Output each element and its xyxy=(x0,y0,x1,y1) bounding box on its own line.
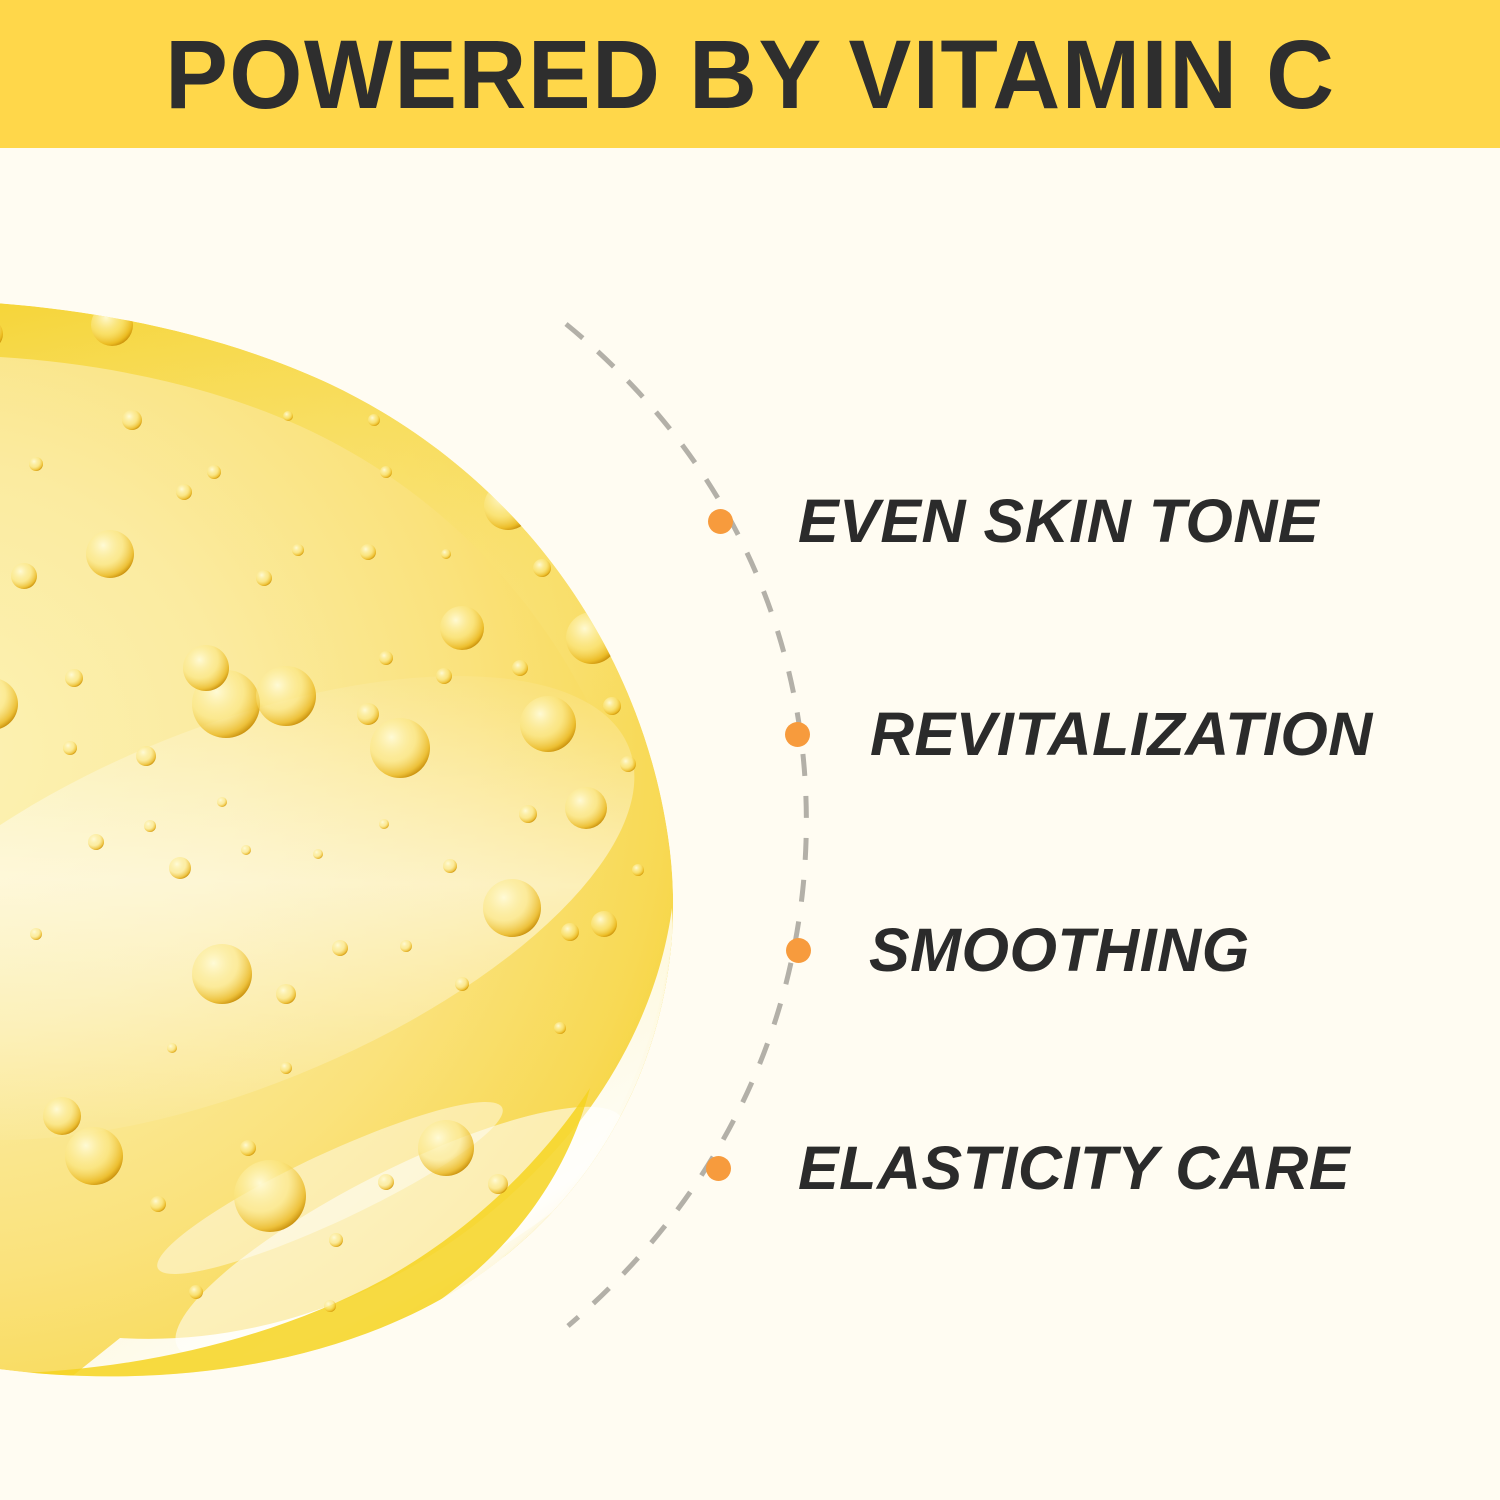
benefit-item-elasticity-care[interactable]: ELASTICITY CARE xyxy=(706,1138,1350,1199)
benefit-label: REVITALIZATION xyxy=(870,704,1373,765)
gel-drop-image xyxy=(0,148,900,1500)
gel-bubbles xyxy=(0,259,644,1312)
bullet-dot-icon xyxy=(708,509,733,534)
benefit-label: EVEN SKIN TONE xyxy=(798,491,1319,552)
page-title: POWERED BY VITAMIN C xyxy=(165,26,1335,123)
bullet-dot-icon xyxy=(785,722,810,747)
bullet-dot-icon xyxy=(706,1156,731,1181)
header-banner: POWERED BY VITAMIN C xyxy=(0,0,1500,148)
benefit-label: SMOOTHING xyxy=(869,920,1250,981)
benefit-item-smoothing[interactable]: SMOOTHING xyxy=(786,920,1250,981)
benefit-item-even-skin-tone[interactable]: EVEN SKIN TONE xyxy=(708,491,1319,552)
infographic-canvas: POWERED BY VITAMIN C xyxy=(0,0,1500,1500)
benefit-label: ELASTICITY CARE xyxy=(798,1138,1350,1199)
bullet-dot-icon xyxy=(786,938,811,963)
benefit-item-revitalization[interactable]: REVITALIZATION xyxy=(785,704,1373,765)
gel-body xyxy=(0,259,721,1414)
